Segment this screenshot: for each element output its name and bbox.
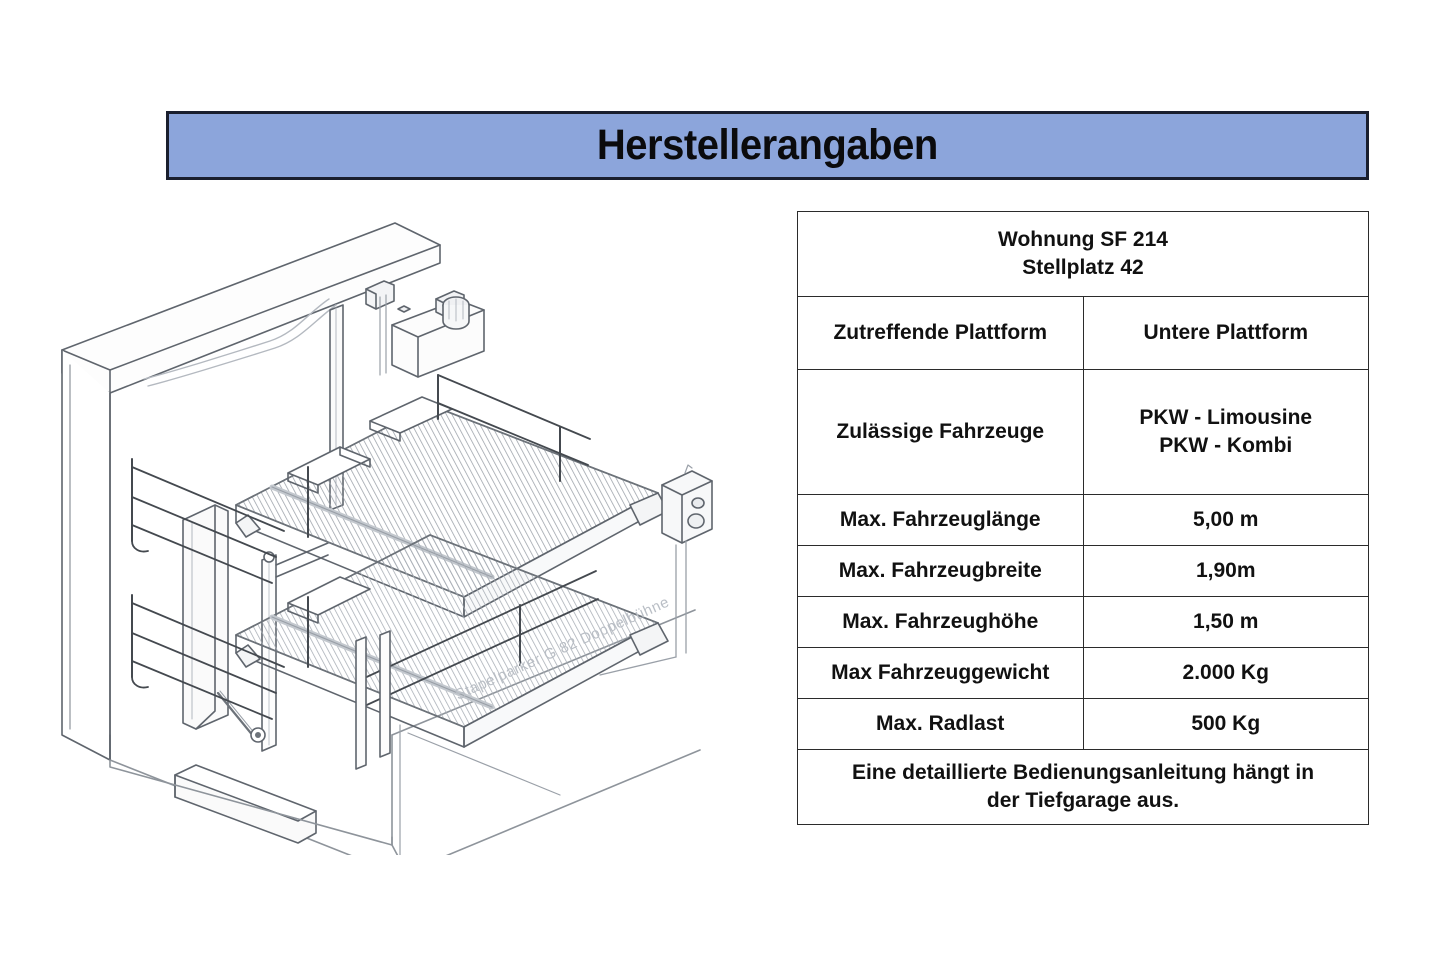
row-label-vehicles: Zulässige Fahrzeuge: [798, 370, 1084, 495]
row-value-height: 1,50 m: [1083, 597, 1369, 648]
row-value-width: 1,90m: [1083, 546, 1369, 597]
manual-notice-line-2: der Tiefgarage aus.: [804, 787, 1362, 815]
row-label-height: Max. Fahrzeughöhe: [798, 597, 1084, 648]
table-row-footer-note: Eine detaillierte Bedienungsanleitung hä…: [798, 750, 1369, 825]
table-row-title: Wohnung SF 214 Stellplatz 42: [798, 212, 1369, 297]
ceiling-slab: [62, 223, 440, 393]
table-row: Zutreffende Plattform Untere Plattform: [798, 297, 1369, 370]
lifting-column: [175, 305, 343, 843]
back-wall: [62, 350, 110, 760]
manufacturer-spec-table: Wohnung SF 214 Stellplatz 42 Zutreffende…: [797, 211, 1369, 825]
unit-identification-cell: Wohnung SF 214 Stellplatz 42: [798, 212, 1369, 297]
row-value-vehicles: PKW - Limousine PKW - Kombi: [1083, 370, 1369, 495]
row-label-length: Max. Fahrzeuglänge: [798, 495, 1084, 546]
row-value-plattform: Untere Plattform: [1083, 297, 1369, 370]
parking-lift-illustration: Stapelparker G 82 Doppelbühne: [40, 205, 740, 855]
row-value-length: 5,00 m: [1083, 495, 1369, 546]
page-title: Herstellerangaben: [597, 121, 938, 170]
wohnung-label: Wohnung SF 214: [804, 226, 1362, 254]
manual-notice-cell: Eine detaillierte Bedienungsanleitung hä…: [798, 750, 1369, 825]
stellplatz-label: Stellplatz 42: [804, 254, 1362, 282]
table-row: Max. Fahrzeughöhe 1,50 m: [798, 597, 1369, 648]
vehicle-type-2: PKW - Kombi: [1090, 432, 1363, 460]
row-label-wheelload: Max. Radlast: [798, 699, 1084, 750]
manual-notice-line-1: Eine detaillierte Bedienungsanleitung hä…: [804, 759, 1362, 787]
table-row: Zulässige Fahrzeuge PKW - Limousine PKW …: [798, 370, 1369, 495]
row-label-weight: Max Fahrzeuggewicht: [798, 648, 1084, 699]
row-label-plattform: Zutreffende Plattform: [798, 297, 1084, 370]
row-value-weight: 2.000 Kg: [1083, 648, 1369, 699]
table-row: Max. Fahrzeugbreite 1,90m: [798, 546, 1369, 597]
table-row: Max. Fahrzeuglänge 5,00 m: [798, 495, 1369, 546]
row-value-wheelload: 500 Kg: [1083, 699, 1369, 750]
vehicle-type-1: PKW - Limousine: [1090, 404, 1363, 432]
technical-drawing: Stapelparker G 82 Doppelbühne: [40, 205, 740, 855]
base-frame: [110, 760, 400, 855]
page-header-banner: Herstellerangaben: [166, 111, 1369, 180]
drive-motor: [366, 281, 484, 377]
row-label-width: Max. Fahrzeugbreite: [798, 546, 1084, 597]
table-row: Max Fahrzeuggewicht 2.000 Kg: [798, 648, 1369, 699]
table-row: Max. Radlast 500 Kg: [798, 699, 1369, 750]
